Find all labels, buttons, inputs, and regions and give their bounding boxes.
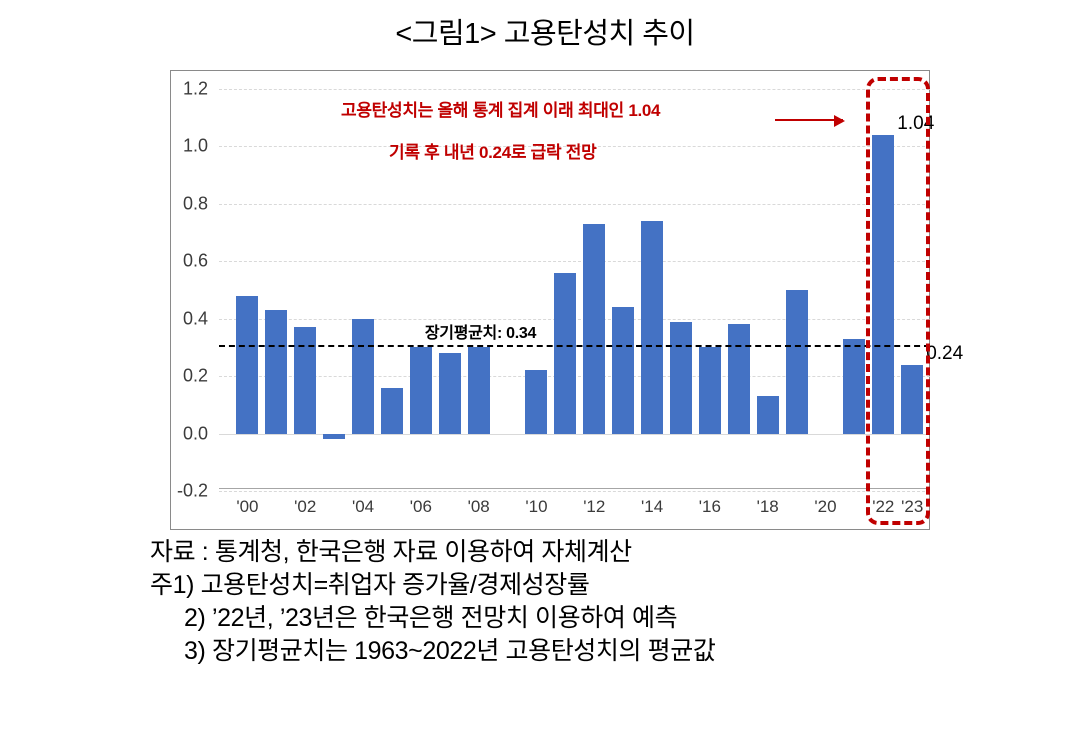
footnotes: 자료 : 통계청, 한국은행 자료 이용하여 자체계산 주1) 고용탄성치=취업…	[150, 536, 1090, 668]
y-axis-tick-label: 0.4	[148, 308, 208, 329]
x-axis-tick-label: '14	[641, 497, 663, 517]
x-axis-tick-label: '08	[468, 497, 490, 517]
x-axis-tick-label: '02	[294, 497, 316, 517]
x-axis-tick-label: '12	[583, 497, 605, 517]
bar-y19[interactable]	[786, 290, 808, 434]
bar-y16[interactable]	[699, 347, 721, 433]
x-axis-tick-label: '18	[757, 497, 779, 517]
x-axis-tick-label: '00	[236, 497, 258, 517]
data-label-y23: 0.24	[926, 343, 963, 365]
x-axis-tick-label: '04	[352, 497, 374, 517]
bar-y14[interactable]	[641, 221, 663, 433]
bar-y06[interactable]	[410, 347, 432, 433]
x-axis-tick-label: '23	[901, 497, 923, 517]
annotation-line-2: 기록 후 내년 0.24로 급락 전망	[389, 138, 596, 163]
x-axis-tick-label: '22	[872, 497, 894, 517]
chart-container: 1.21.00.80.60.40.20.0-0.2'00'02'04'06'08…	[170, 70, 930, 530]
annotation-line-1: 고용탄성치는 올해 통계 집계 이래 최대인 1.04	[341, 96, 660, 121]
long-term-average-line	[219, 345, 930, 347]
gridline--0.2	[219, 491, 930, 492]
y-axis-tick-label: 1.2	[148, 79, 208, 100]
y-axis-tick-label: 1.0	[148, 136, 208, 157]
bar-y13[interactable]	[612, 307, 634, 433]
bar-y10[interactable]	[525, 370, 547, 433]
y-axis-tick-label: -0.2	[148, 481, 208, 502]
x-axis-line	[219, 488, 930, 489]
bar-y03[interactable]	[323, 434, 345, 440]
gridline-0.6	[219, 261, 930, 262]
footnote-note-3: 3) 장기평균치는 1963~2022년 고용탄성치의 평균값	[150, 635, 1090, 668]
bar-y12[interactable]	[583, 224, 605, 434]
bar-y01[interactable]	[265, 310, 287, 433]
y-axis-tick-label: 0.0	[148, 423, 208, 444]
y-axis-tick-label: 0.2	[148, 366, 208, 387]
bar-y05[interactable]	[381, 388, 403, 434]
arrow-right-icon	[775, 119, 843, 121]
gridline-0.8	[219, 204, 930, 205]
bar-y15[interactable]	[670, 322, 692, 434]
bar-y04[interactable]	[352, 319, 374, 434]
gridline-1.2	[219, 89, 930, 90]
bar-y08[interactable]	[468, 347, 490, 433]
bar-y00[interactable]	[236, 296, 258, 434]
x-axis-tick-label: '20	[814, 497, 836, 517]
footnote-note-1: 주1) 고용탄성치=취업자 증가율/경제성장률	[150, 569, 1090, 602]
bar-y02[interactable]	[294, 327, 316, 433]
data-label-y22: 1.04	[897, 113, 934, 135]
bar-y21[interactable]	[843, 339, 865, 434]
bar-y22[interactable]	[872, 135, 894, 434]
x-axis-tick-label: '16	[699, 497, 721, 517]
long-term-average-label: 장기평균치: 0.34	[425, 319, 536, 343]
y-axis-tick-label: 0.6	[148, 251, 208, 272]
bar-y17[interactable]	[728, 324, 750, 433]
x-axis-tick-label: '06	[410, 497, 432, 517]
bar-y07[interactable]	[439, 353, 461, 433]
footnote-source: 자료 : 통계청, 한국은행 자료 이용하여 자체계산	[150, 536, 1090, 569]
x-axis-tick-label: '10	[525, 497, 547, 517]
bar-y11[interactable]	[554, 273, 576, 434]
bar-y23[interactable]	[901, 365, 923, 434]
bar-y18[interactable]	[757, 396, 779, 433]
footnote-note-2: 2) ’22년, ’23년은 한국은행 전망치 이용하여 예측	[150, 602, 1090, 635]
page-title: <그림1> 고용탄성치 추이	[0, 10, 1090, 52]
y-axis-tick-label: 0.8	[148, 193, 208, 214]
